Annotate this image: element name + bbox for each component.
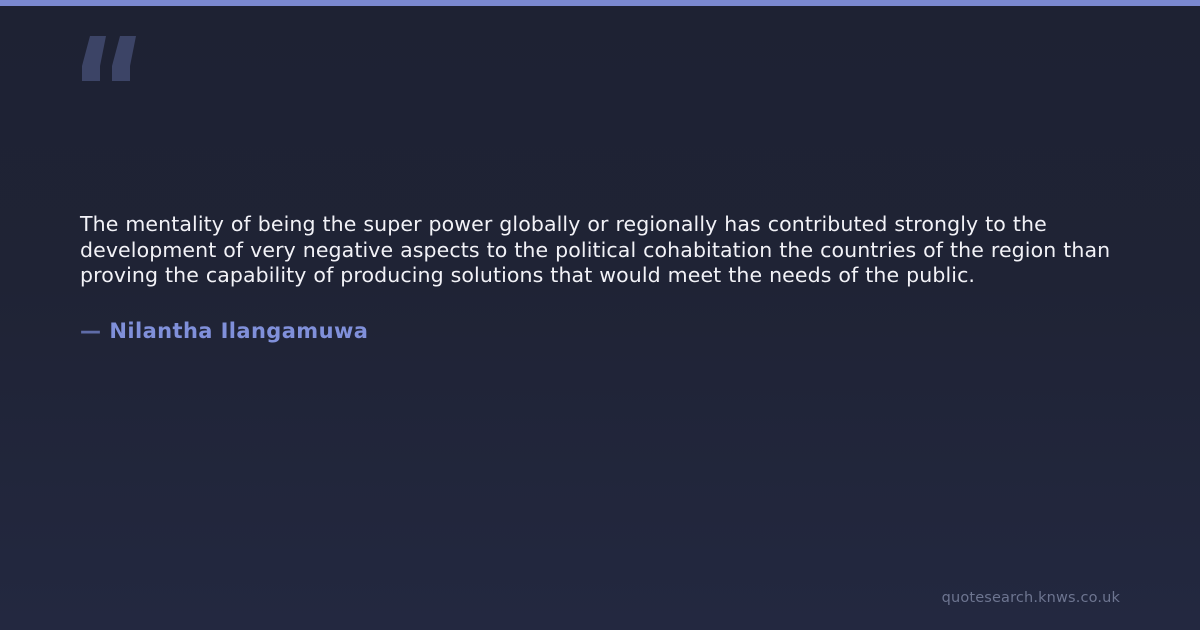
site-watermark: quotesearch.knws.co.uk — [942, 590, 1120, 606]
author-name: Nilantha Ilangamuwa — [109, 319, 368, 343]
quote-text: The mentality of being the super power g… — [80, 212, 1120, 289]
quote-attribution: —Nilantha Ilangamuwa — [80, 289, 1130, 343]
quote-card: The mentality of being the super power g… — [0, 0, 1200, 630]
attribution-dash: — — [80, 319, 101, 343]
quote-content: The mentality of being the super power g… — [80, 212, 1130, 343]
double-quote-open-icon — [78, 22, 158, 92]
top-accent-bar — [0, 0, 1200, 6]
